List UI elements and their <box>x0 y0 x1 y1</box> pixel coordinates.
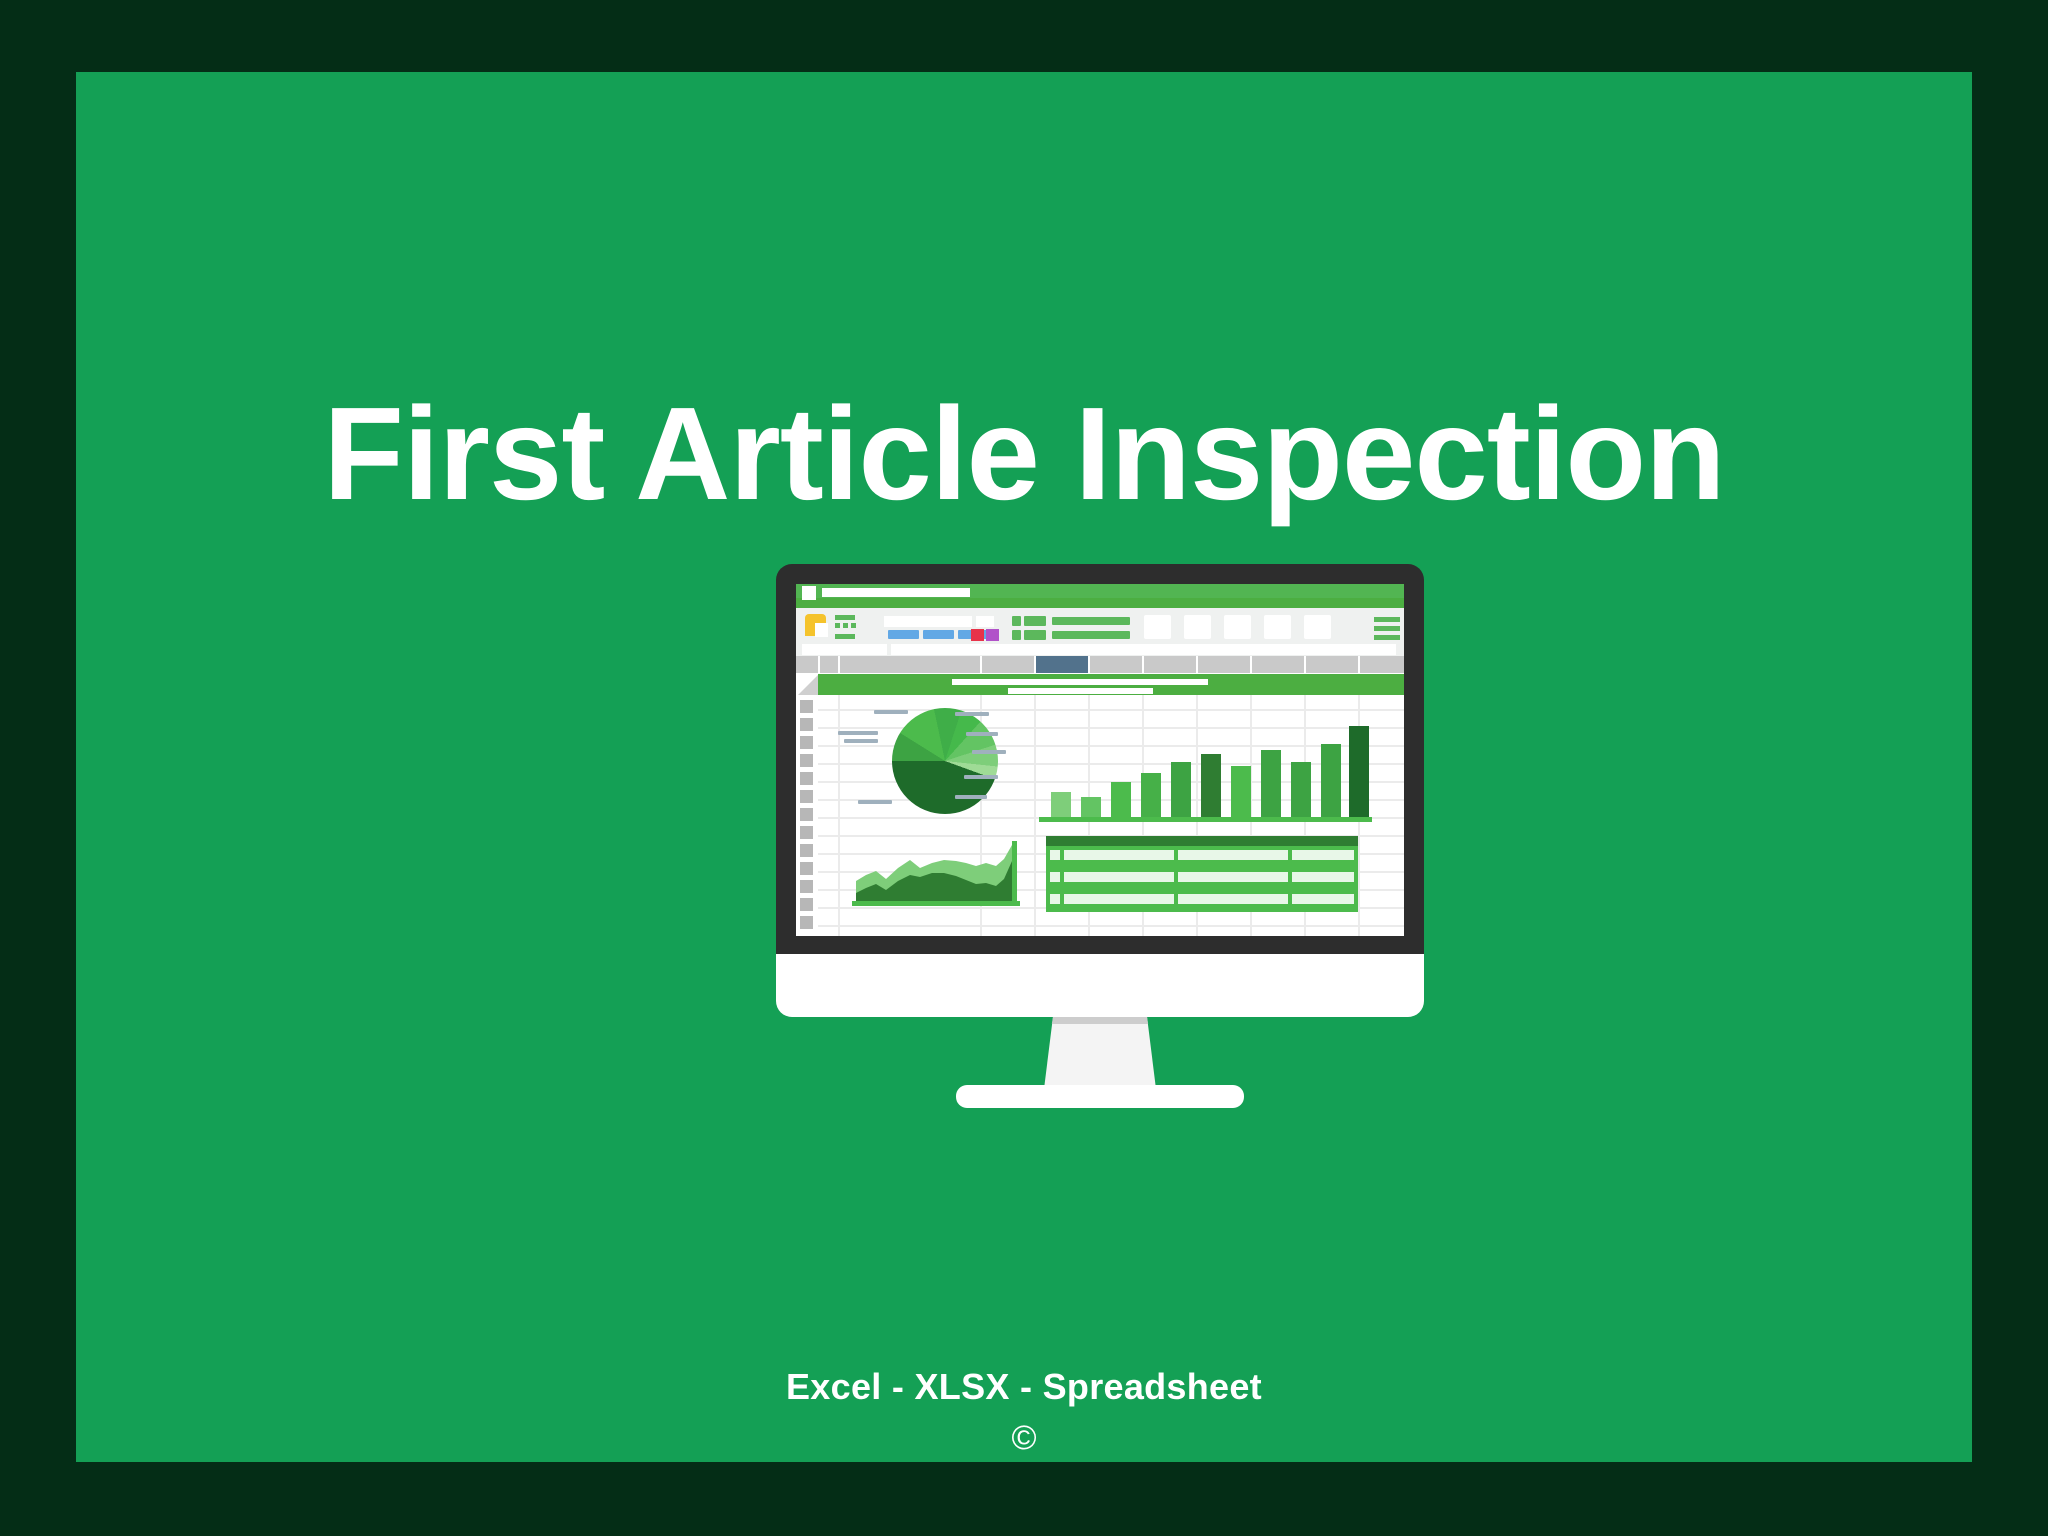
column-header-row[interactable] <box>796 656 1404 673</box>
file-format-label: Excel - XLSX - Spreadsheet <box>76 1367 1972 1407</box>
toolbar-dash <box>851 623 856 628</box>
bar-chart-baseline <box>1039 817 1372 822</box>
page-icon <box>815 623 828 637</box>
font-color-button[interactable] <box>971 629 984 641</box>
worksheet-grid[interactable] <box>796 673 1404 936</box>
styles-group[interactable] <box>1144 615 1359 639</box>
paste-group-icon[interactable] <box>835 615 868 642</box>
embedded-table <box>1046 836 1358 912</box>
style-button[interactable] <box>1264 615 1291 639</box>
area-chart <box>852 841 1020 909</box>
select-all-corner-icon[interactable] <box>796 673 818 695</box>
app-titlebar-filename <box>822 588 970 597</box>
formula-bar[interactable] <box>796 643 1404 656</box>
ribbon-toolbar[interactable] <box>796 608 1404 643</box>
toolbar-dash <box>835 623 840 628</box>
footer: Excel - XLSX - Spreadsheet © <box>76 1367 1972 1455</box>
pie-chart <box>836 703 1021 821</box>
monitor-illustration <box>776 564 1424 1126</box>
style-button[interactable] <box>1144 615 1171 639</box>
toolbar-dash <box>843 623 848 628</box>
font-name-field[interactable] <box>884 616 972 627</box>
style-button[interactable] <box>1304 615 1331 639</box>
toolbar-line <box>835 615 855 620</box>
page-title: First Article Inspection <box>76 388 1972 520</box>
bar-chart <box>1039 685 1372 822</box>
app-logo-icon <box>802 586 816 600</box>
row-header-column[interactable] <box>796 673 818 936</box>
spreadsheet-screen <box>796 584 1404 936</box>
align-center-button[interactable] <box>923 630 954 639</box>
style-button[interactable] <box>1184 615 1211 639</box>
app-titlebar <box>796 584 1404 608</box>
area-chart-svg <box>852 841 1020 909</box>
selected-column-header[interactable] <box>1036 656 1088 673</box>
monitor-chin <box>776 954 1424 1017</box>
name-box-input[interactable] <box>802 644 887 655</box>
table-header-row <box>1046 836 1358 846</box>
monitor-stand-neck-top <box>1044 1017 1156 1024</box>
toolbar-line <box>835 634 855 639</box>
poster-inner-panel: First Article Inspection <box>76 72 1972 1462</box>
style-button[interactable] <box>1224 615 1251 639</box>
monitor-stand-base <box>956 1085 1244 1108</box>
number-format-group[interactable] <box>1012 616 1130 640</box>
fill-color-button[interactable] <box>986 629 999 641</box>
poster-canvas: First Article Inspection <box>0 0 2048 1536</box>
copyright-icon: © <box>76 1421 1972 1455</box>
align-left-button[interactable] <box>888 630 919 639</box>
formula-input[interactable] <box>891 644 1396 655</box>
menu-hamburger-icon[interactable] <box>1374 617 1400 644</box>
monitor-stand-neck <box>1044 1017 1156 1089</box>
font-size-field[interactable] <box>976 616 994 627</box>
